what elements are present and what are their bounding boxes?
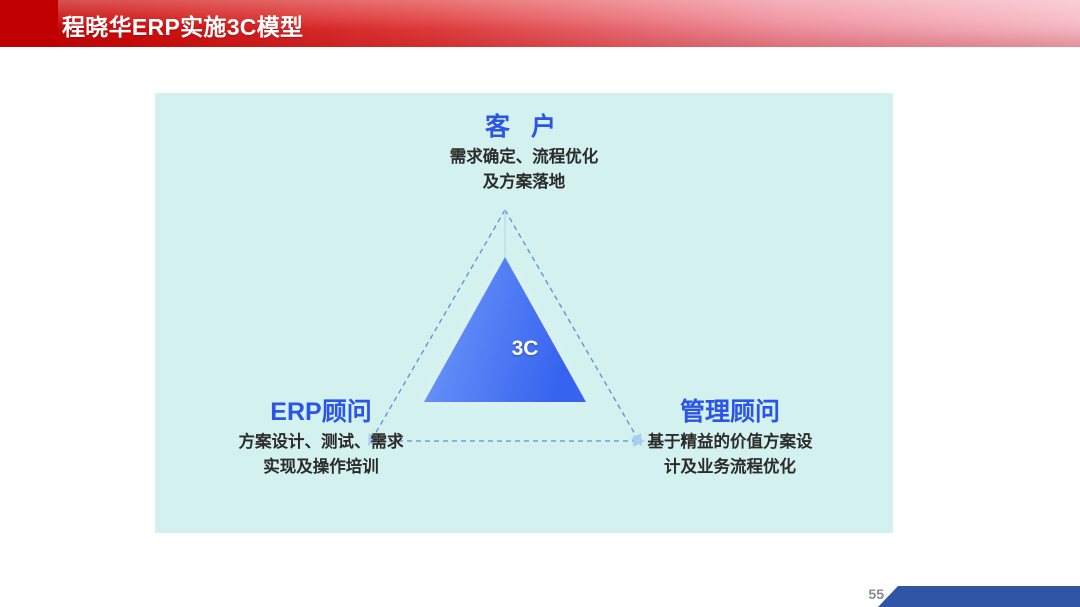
- core-label: 3C: [479, 337, 571, 361]
- page-number: 55: [868, 586, 884, 602]
- node-management-consultant-title: 管理顾问: [567, 398, 893, 427]
- node-erp-consultant-desc-line1: 方案设计、测试、需求: [161, 430, 481, 455]
- slide-title-bar: 程晓华ERP实施3C模型: [0, 0, 1080, 47]
- title-accent-block: [0, 0, 58, 47]
- node-management-consultant-desc-line1: 基于精益的价值方案设: [567, 430, 893, 455]
- footer-decoration: [0, 580, 1080, 607]
- node-customer: 客 户 需求确定、流程优化 及方案落地: [354, 113, 694, 195]
- core-triangle: [424, 257, 586, 402]
- node-erp-consultant: ERP顾问 方案设计、测试、需求 实现及操作培训: [161, 398, 481, 480]
- slide-title: 程晓华ERP实施3C模型: [62, 8, 303, 42]
- node-management-consultant: 管理顾问 基于精益的价值方案设 计及业务流程优化: [567, 398, 893, 480]
- node-erp-consultant-desc-line2: 实现及操作培训: [161, 455, 481, 480]
- three-c-model-diagram: 3C 客 户 需求确定、流程优化 及方案落地 ERP顾问 方案设计、测试、需求 …: [155, 93, 893, 533]
- node-customer-desc-line1: 需求确定、流程优化: [354, 145, 694, 170]
- node-customer-desc-line2: 及方案落地: [354, 170, 694, 195]
- node-management-consultant-desc-line2: 计及业务流程优化: [567, 455, 893, 480]
- content-panel: 3C 客 户 需求确定、流程优化 及方案落地 ERP顾问 方案设计、测试、需求 …: [155, 93, 893, 533]
- node-customer-title: 客 户: [354, 113, 694, 142]
- node-erp-consultant-title: ERP顾问: [161, 398, 481, 427]
